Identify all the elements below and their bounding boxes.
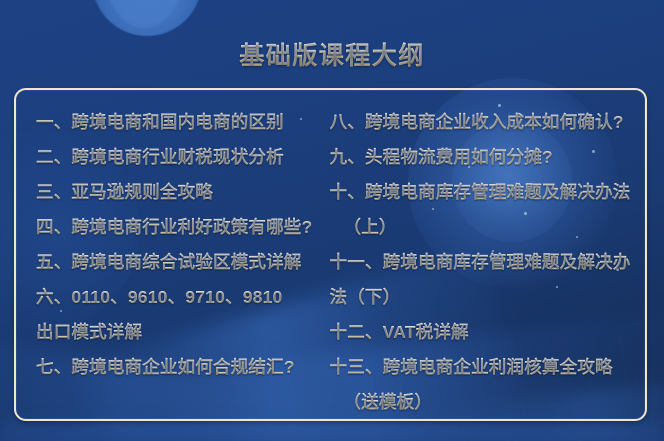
top-circle-blob-core: [104, 0, 186, 28]
outline-right-item: （送模板）: [330, 385, 639, 420]
outline-right-item: 十二、VAT税详解: [330, 315, 639, 350]
outline-right-column: 八、跨境电商企业收入成本如何确认?九、头程物流费用如何分摊?十、跨境电商库存管理…: [322, 105, 639, 420]
outline-right-item: 十三、跨境电商企业利润核算全攻略: [330, 350, 639, 385]
outline-left-item: 六、0110、9610、9710、9810: [36, 280, 322, 315]
outline-left-item: 七、跨境电商企业如何合规结汇?: [36, 350, 322, 385]
outline-right-item: 九、头程物流费用如何分摊?: [330, 140, 639, 175]
outline-right-item: 十、跨境电商库存管理难题及解决办法: [330, 175, 639, 210]
outline-columns: 一、跨境电商和国内电商的区别二、跨境电商行业财税现状分析三、亚马逊规则全攻略四、…: [14, 88, 647, 421]
page-title: 基础版课程大纲: [0, 36, 664, 72]
outline-left-item: 出口模式详解: [36, 315, 322, 350]
outline-left-item: 二、跨境电商行业财税现状分析: [36, 140, 322, 175]
top-circle-blob-decoration: [92, 0, 202, 36]
outline-left-item: 一、跨境电商和国内电商的区别: [36, 105, 322, 140]
outline-left-item: 五、跨境电商综合试验区模式详解: [36, 245, 322, 280]
outline-left-item: 四、跨境电商行业利好政策有哪些?: [36, 210, 322, 245]
outline-right-item: 八、跨境电商企业收入成本如何确认?: [330, 105, 639, 140]
outline-right-item: 十一、跨境电商库存管理难题及解决办: [330, 245, 639, 280]
outline-left-column: 一、跨境电商和国内电商的区别二、跨境电商行业财税现状分析三、亚马逊规则全攻略四、…: [22, 105, 322, 385]
outline-left-item: 三、亚马逊规则全攻略: [36, 175, 322, 210]
course-outline-poster: 基础版课程大纲 一、跨境电商和国内电商的区别二、跨境电商行业财税现状分析三、亚马…: [0, 0, 664, 441]
outline-right-item: （上）: [330, 210, 639, 245]
outline-right-item: 法（下）: [330, 280, 639, 315]
